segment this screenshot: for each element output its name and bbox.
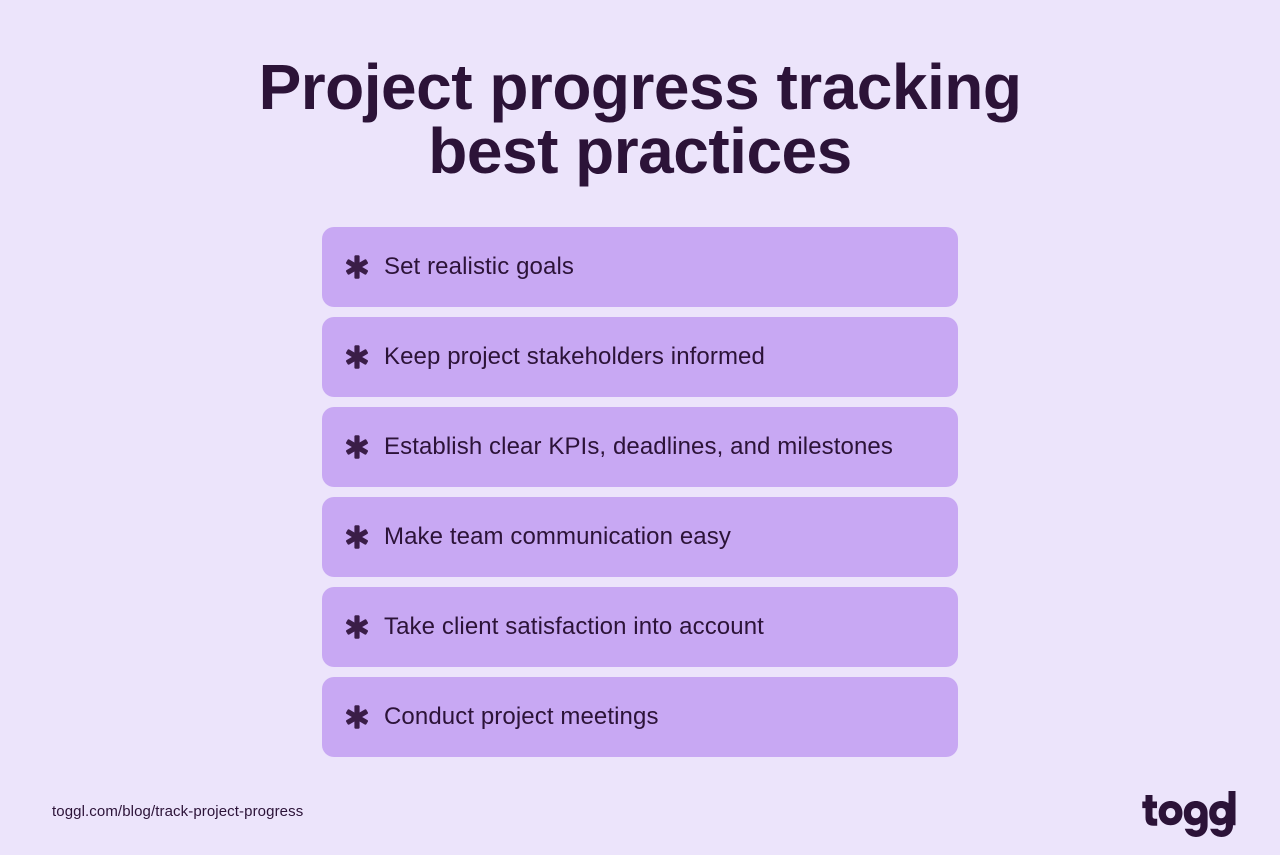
list-item-label: Establish clear KPIs, deadlines, and mil…: [384, 433, 893, 461]
list-item-label: Conduct project meetings: [384, 703, 659, 731]
list-item-label: Keep project stakeholders informed: [384, 343, 765, 371]
slide-canvas: Project progress tracking best practices…: [0, 0, 1280, 855]
list-item-label: Take client satisfaction into account: [384, 613, 764, 641]
asterisk-icon: [344, 704, 370, 730]
list-item-label: Make team communication easy: [384, 523, 731, 551]
asterisk-icon: [344, 254, 370, 280]
list-item-label: Set realistic goals: [384, 253, 574, 281]
asterisk-icon: [344, 614, 370, 640]
best-practices-list: Set realistic goals Keep project stakeho…: [322, 227, 958, 757]
asterisk-icon: [344, 344, 370, 370]
asterisk-icon: [344, 434, 370, 460]
footer-url: toggl.com/blog/track-project-progress: [52, 803, 303, 820]
list-item[interactable]: Establish clear KPIs, deadlines, and mil…: [322, 407, 958, 487]
page-title: Project progress tracking best practices: [0, 55, 1280, 183]
list-item[interactable]: Keep project stakeholders informed: [322, 317, 958, 397]
list-item[interactable]: Set realistic goals: [322, 227, 958, 307]
list-item[interactable]: Conduct project meetings: [322, 677, 958, 757]
toggl-wordmark-logo: [1140, 789, 1236, 837]
list-item[interactable]: Take client satisfaction into account: [322, 587, 958, 667]
asterisk-icon: [344, 524, 370, 550]
list-item[interactable]: Make team communication easy: [322, 497, 958, 577]
